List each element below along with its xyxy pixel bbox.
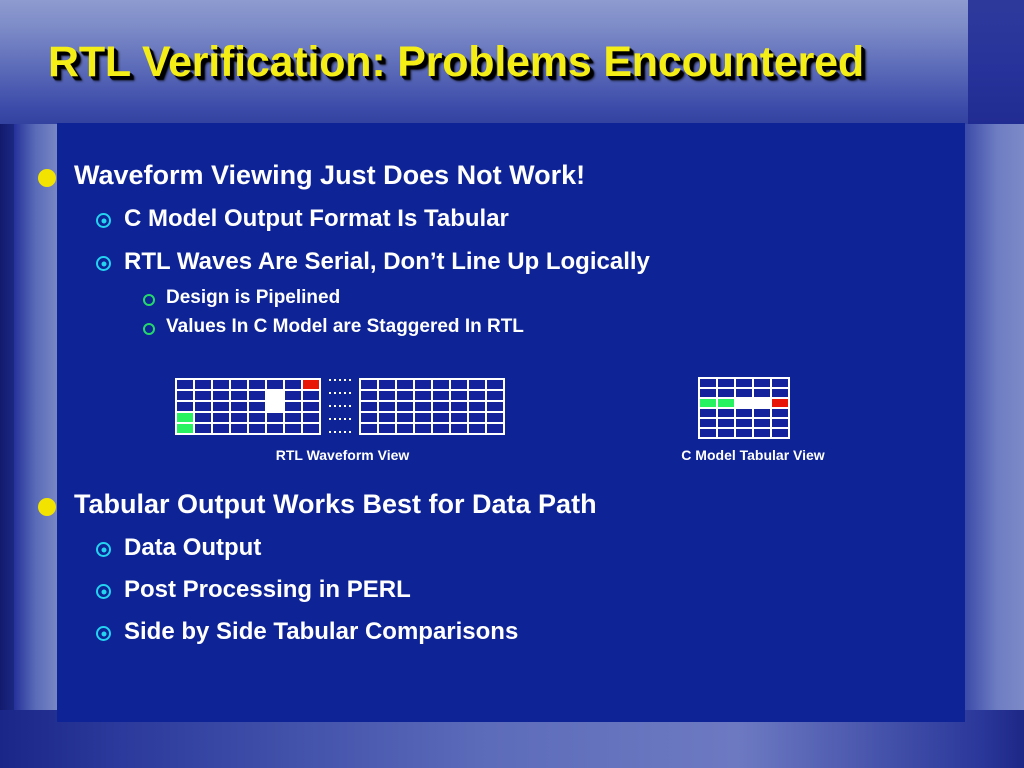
grid-cell [249,391,265,400]
grid-cell [415,402,431,411]
ellipsis-dot [339,379,341,381]
bullet-text: Values In C Model are Staggered In RTL [166,316,524,338]
grid-cell [303,413,319,422]
grid-cell [379,391,395,400]
bullet-item-level1-waveform-viewing: Waveform Viewing Just Does Not Work! [38,160,585,191]
grid-cell [718,389,734,397]
grid-cell [718,419,734,427]
grid-cell [213,380,229,389]
grid-cell [195,391,211,400]
ellipsis-dot [344,379,346,381]
grid-cell [469,424,485,433]
grid-cell [718,429,734,437]
grid-cell [487,402,503,411]
grid-cell [267,380,283,389]
grid-cell [195,402,211,411]
grid-cell [213,413,229,422]
rtl-waveform-right-grid [359,378,505,435]
grid-cell [754,379,770,387]
ellipsis-dot [344,418,346,420]
grid-cell [469,413,485,422]
grid-cell [195,380,211,389]
grid-cell [772,429,788,437]
ellipsis-dot [349,379,351,381]
grid-cell [177,413,193,422]
grid-cell [249,413,265,422]
bullet-text: Data Output [124,534,261,562]
ellipsis-dot [334,418,336,420]
grid-cell [303,402,319,411]
grid-cell [736,379,752,387]
grid-cell [285,413,301,422]
yellow-disc-bullet-icon [38,498,56,516]
grid-cell [397,391,413,400]
ellipsis-dot-row [329,379,351,381]
bullet-item-level2-rtl-waves-serial: RTL Waves Are Serial, Don’t Line Up Logi… [96,248,650,276]
grid-cell [379,413,395,422]
grid-cell [754,409,770,417]
bullet-text: Tabular Output Works Best for Data Path [74,489,597,520]
grid-cell [415,380,431,389]
grid-cell [451,380,467,389]
grid-cell [177,380,193,389]
grid-cell [469,402,485,411]
grid-cell [249,424,265,433]
ellipsis-dot [329,392,331,394]
grid-cell [267,424,283,433]
grid-cell [451,402,467,411]
grid-cell [700,399,716,407]
ellipsis-dot [329,431,331,433]
grid-cell [249,380,265,389]
grid-cell [415,391,431,400]
rtl-waveform-caption: RTL Waveform View [175,447,510,463]
grid-cell [433,391,449,400]
grid-cell [451,413,467,422]
ellipsis-dot [344,405,346,407]
ellipsis-dot [329,405,331,407]
grid-cell [195,424,211,433]
grid-cell [397,424,413,433]
grid-cell [267,402,283,411]
grid-cell [267,391,283,400]
grid-cell [736,419,752,427]
grid-cell [718,379,734,387]
bullet-text: Waveform Viewing Just Does Not Work! [74,160,585,191]
c-model-tabular-caption: C Model Tabular View [648,447,858,463]
grid-cell [361,402,377,411]
grid-cell [736,429,752,437]
grid-cell [231,402,247,411]
grid-cell [397,402,413,411]
grid-cell [379,424,395,433]
grid-cell [177,391,193,400]
grid-cell [361,424,377,433]
bullet-text: Design is Pipelined [166,287,340,309]
bullet-item-level1-tabular-output: Tabular Output Works Best for Data Path [38,489,597,520]
grid-cell [213,391,229,400]
grid-cell [433,413,449,422]
grid-cell [772,399,788,407]
grid-cell [700,419,716,427]
grid-cell [267,413,283,422]
grid-cell [469,380,485,389]
ellipsis-dot [334,379,336,381]
grid-cell [736,389,752,397]
cyan-target-bullet-icon [96,584,111,599]
grid-cell [285,380,301,389]
grid-cell [303,424,319,433]
ellipsis-dot [329,379,331,381]
bullet-item-level2-side-by-side-comparisons: Side by Side Tabular Comparisons [96,618,518,646]
ellipsis-dot [344,392,346,394]
grid-cell [249,402,265,411]
grid-cell [361,380,377,389]
grid-cell [231,424,247,433]
grid-cell [433,402,449,411]
grid-cell [415,413,431,422]
ellipsis-dot-row [329,392,351,394]
grid-cell [177,424,193,433]
slide-header-band-right [968,0,1024,124]
ellipsis-dot [339,418,341,420]
ellipsis-dot-row [329,431,351,433]
grid-cell [379,402,395,411]
ellipsis-dot-row [329,418,351,420]
grid-cell [736,399,752,407]
grid-cell [700,429,716,437]
presentation-slide: RTL Verification: Problems Encountered W… [0,0,1024,768]
ellipsis-dot [339,431,341,433]
ellipsis-dot [349,418,351,420]
ellipsis-dot [334,392,336,394]
grid-cell [700,409,716,417]
ellipsis-dot [339,392,341,394]
grid-cell [397,380,413,389]
grid-cell [379,380,395,389]
grid-cell [772,409,788,417]
bullet-text: Post Processing in PERL [124,576,411,604]
ellipsis-dot [334,405,336,407]
grid-cell [754,399,770,407]
ellipsis-dot [349,431,351,433]
grid-cell [231,391,247,400]
green-ring-bullet-icon [143,294,155,306]
bullet-text: C Model Output Format Is Tabular [124,205,509,233]
ellipsis-dot [344,431,346,433]
ellipsis-dot [349,405,351,407]
grid-cell [451,391,467,400]
slide-title: RTL Verification: Problems Encountered [48,38,968,87]
grid-cell [433,424,449,433]
grid-cell [213,402,229,411]
grid-cell [213,424,229,433]
grid-cell [487,380,503,389]
grid-cell [754,389,770,397]
bullet-item-level3-design-is-pipelined: Design is Pipelined [143,287,340,309]
bullet-item-level2-post-processing-perl: Post Processing in PERL [96,576,411,604]
rtl-waveform-left-grid [175,378,321,435]
grid-cell [397,413,413,422]
grid-cell [361,391,377,400]
bullet-item-level2-data-output: Data Output [96,534,261,562]
ellipsis-dot [334,431,336,433]
grid-cell [177,402,193,411]
grid-cell [754,429,770,437]
cyan-target-bullet-icon [96,256,111,271]
bullet-text: Side by Side Tabular Comparisons [124,618,518,646]
grid-cell [718,409,734,417]
cyan-target-bullet-icon [96,213,111,228]
grid-cell [361,413,377,422]
grid-cell [718,399,734,407]
grid-cell [772,419,788,427]
grid-cell [231,413,247,422]
grid-cell [736,409,752,417]
green-ring-bullet-icon [143,323,155,335]
grid-cell [700,379,716,387]
grid-cell [415,424,431,433]
c-model-tabular-grid [698,377,790,439]
ellipsis-dot-row [329,405,351,407]
rtl-waveform-ellipsis-separator [329,377,351,435]
grid-cell [772,379,788,387]
bullet-text: RTL Waves Are Serial, Don’t Line Up Logi… [124,248,650,276]
rtl-waveform-diagram [175,377,505,435]
grid-cell [451,424,467,433]
yellow-disc-bullet-icon [38,169,56,187]
c-model-tabular-diagram [698,377,790,439]
bullet-item-level3-values-staggered: Values In C Model are Staggered In RTL [143,316,524,338]
grid-cell [487,391,503,400]
grid-cell [285,402,301,411]
grid-cell [754,419,770,427]
grid-cell [303,391,319,400]
grid-cell [285,391,301,400]
ellipsis-dot [329,418,331,420]
grid-cell [487,424,503,433]
ellipsis-dot [339,405,341,407]
grid-cell [487,413,503,422]
grid-cell [285,424,301,433]
grid-cell [231,380,247,389]
grid-cell [772,389,788,397]
bullet-item-level2-c-model-output-format: C Model Output Format Is Tabular [96,205,509,233]
cyan-target-bullet-icon [96,626,111,641]
grid-cell [433,380,449,389]
grid-cell [195,413,211,422]
grid-cell [700,389,716,397]
cyan-target-bullet-icon [96,542,111,557]
grid-cell [303,380,319,389]
grid-cell [469,391,485,400]
ellipsis-dot [349,392,351,394]
